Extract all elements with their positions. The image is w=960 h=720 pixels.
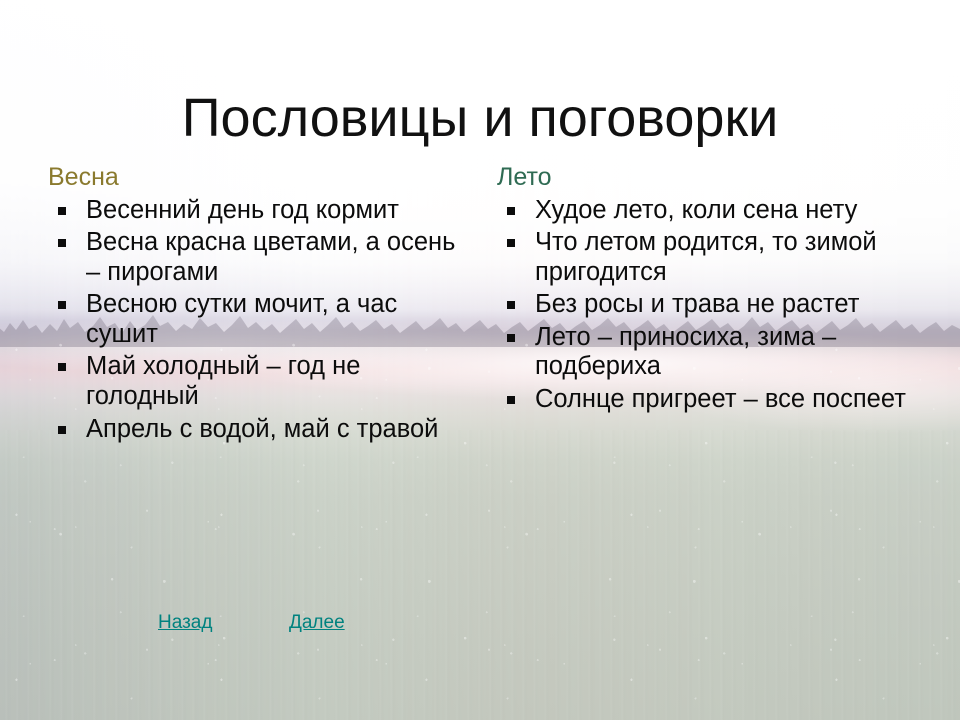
square-bullet-icon <box>507 207 515 215</box>
proverb-list-spring: Весенний день год кормит Весна красна цв… <box>48 196 458 445</box>
proverb-text: Что летом родится, то зимой пригодится <box>535 228 907 287</box>
next-link[interactable]: Далее <box>289 612 345 635</box>
square-bullet-icon <box>507 301 515 309</box>
slide-canvas: Пословицы и поговорки Весна Весенний ден… <box>0 0 960 720</box>
column-heading-summer: Лето <box>497 164 907 192</box>
proverb-text: Апрель с водой, май с травой <box>86 415 458 445</box>
proverb-text: Весною сутки мочит, а час сушит <box>86 290 458 349</box>
square-bullet-icon <box>58 207 66 215</box>
list-item: Апрель с водой, май с травой <box>48 415 458 445</box>
list-item: Весна красна цветами, а осень – пирогами <box>48 228 458 287</box>
proverb-text: Май холодный – год не голодный <box>86 352 458 411</box>
proverb-text: Весенний день год кормит <box>86 196 458 226</box>
list-item: Солнце пригреет – все поспеет <box>497 385 907 415</box>
square-bullet-icon <box>58 363 66 371</box>
square-bullet-icon <box>58 301 66 309</box>
column-summer: Лето Худое лето, коли сена нету Что лето… <box>497 164 907 418</box>
proverb-text: Худое лето, коли сена нету <box>535 196 907 226</box>
list-item: Весною сутки мочит, а час сушит <box>48 290 458 349</box>
column-spring: Весна Весенний день год кормит Весна кра… <box>48 164 458 447</box>
square-bullet-icon <box>58 426 66 434</box>
proverb-list-summer: Худое лето, коли сена нету Что летом род… <box>497 196 907 415</box>
column-heading-spring: Весна <box>48 164 458 192</box>
square-bullet-icon <box>58 239 66 247</box>
square-bullet-icon <box>507 239 515 247</box>
proverb-text: Весна красна цветами, а осень – пирогами <box>86 228 458 287</box>
list-item: Без росы и трава не растет <box>497 290 907 320</box>
list-item: Что летом родится, то зимой пригодится <box>497 228 907 287</box>
square-bullet-icon <box>507 334 515 342</box>
list-item: Худое лето, коли сена нету <box>497 196 907 226</box>
list-item: Лето – приносиха, зима – подбериха <box>497 323 907 382</box>
page-title: Пословицы и поговорки <box>0 90 960 147</box>
proverb-text: Солнце пригреет – все поспеет <box>535 385 907 415</box>
back-link[interactable]: Назад <box>158 612 212 635</box>
list-item: Весенний день год кормит <box>48 196 458 226</box>
proverb-text: Лето – приносиха, зима – подбериха <box>535 323 907 382</box>
proverb-text: Без росы и трава не растет <box>535 290 907 320</box>
square-bullet-icon <box>507 396 515 404</box>
list-item: Май холодный – год не голодный <box>48 352 458 411</box>
slide-content: Пословицы и поговорки Весна Весенний ден… <box>0 0 960 720</box>
navigation-bar: Назад Далее <box>0 612 960 642</box>
